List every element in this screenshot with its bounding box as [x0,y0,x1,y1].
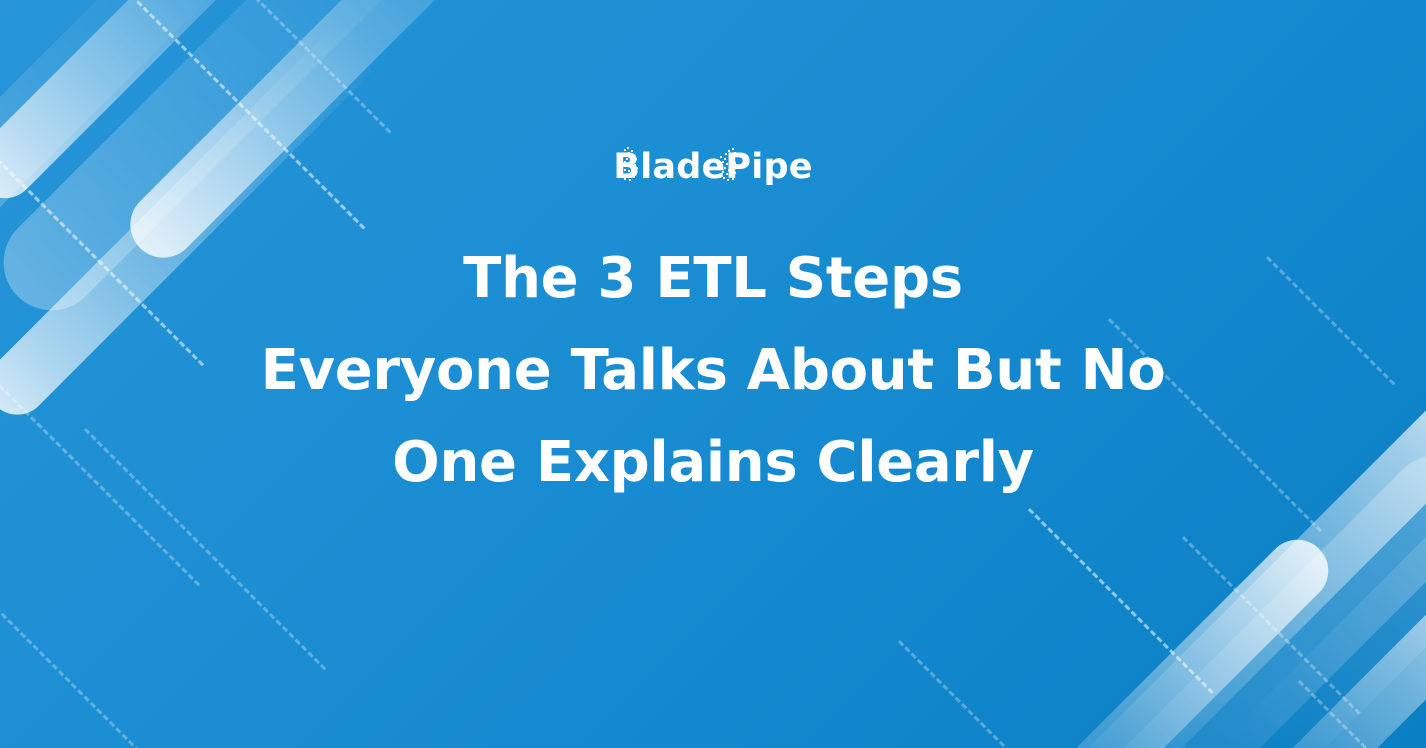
title-line-1: The 3 ETL Steps [261,233,1166,325]
title-line-3: One Explains Clearly [261,417,1166,509]
logo-text-lade: lade [640,150,725,185]
logo-letter-p: Pipe [725,150,812,185]
bladepipe-logo: B [613,150,812,185]
logo-letter-b: B [613,150,640,185]
logo-text-b: B [613,147,640,187]
social-card: B [0,0,1426,748]
page-title: The 3 ETL Steps Everyone Talks About But… [261,233,1166,509]
logo-text-pipe: Pipe [725,147,812,187]
card-content: B [0,0,1426,748]
title-line-2: Everyone Talks About But No [261,325,1166,417]
